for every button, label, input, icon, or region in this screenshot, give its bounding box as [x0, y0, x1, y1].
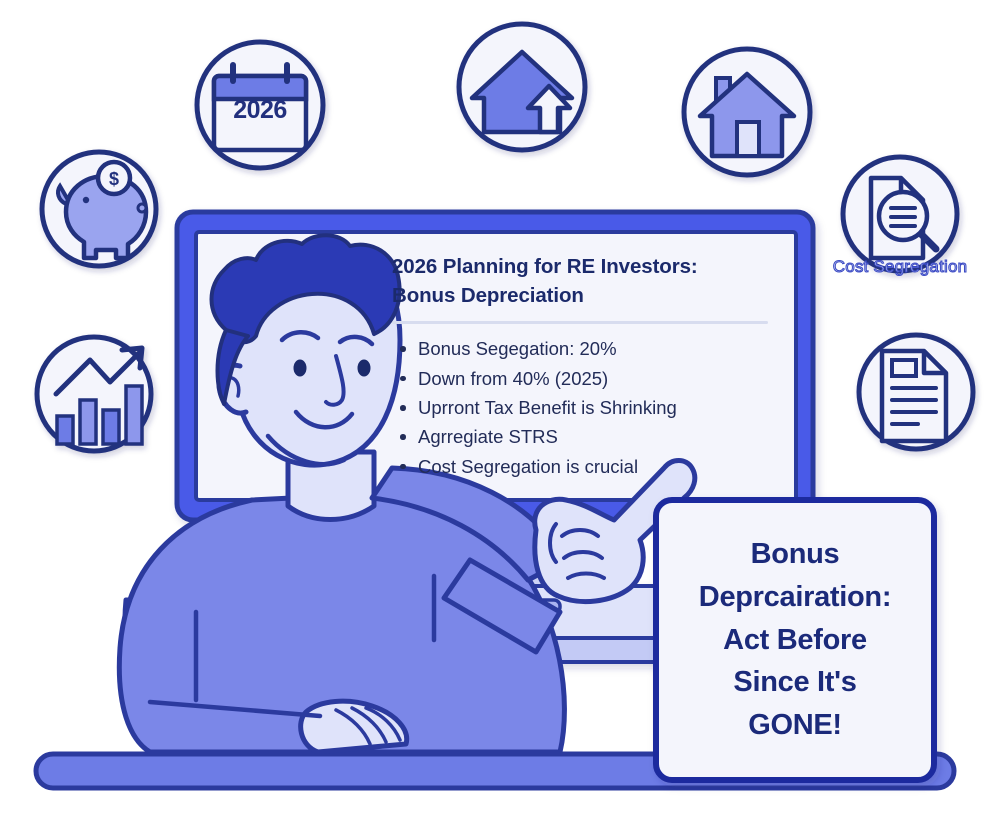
document-magnifier-icon: [843, 157, 957, 271]
calendar-year-label: 2026: [218, 96, 302, 125]
slide-content: 2026 Planning for RE Investors: Bonus De…: [392, 252, 782, 502]
slide-bullet-item: Uprront Tax Benefit is Shrinking: [392, 393, 782, 422]
house-icon: [684, 49, 810, 175]
house-arrow-up-icon: [459, 24, 585, 150]
slide-bullet-item: Cost Segregation is crucial: [392, 452, 782, 481]
slide-title: 2026 Planning for RE Investors: Bonus De…: [392, 252, 782, 310]
callout-line: Bonus: [751, 533, 840, 576]
piggy-bank-icon: $: [42, 152, 156, 266]
callout-line: GONE!: [748, 704, 842, 747]
slide-title-line-2: Bonus Depreciation: [392, 284, 584, 307]
slide-bullet-item: Bonus Segegation: 20%: [392, 334, 782, 363]
callout-line: Act Before: [723, 619, 867, 662]
bar-chart-growth-icon: [37, 337, 151, 451]
slide-divider: [392, 321, 768, 324]
callout-line: Deprcairation:: [699, 576, 891, 619]
slide-bullet-item: Agrregiate STRS: [392, 422, 782, 451]
document-lines-icon: [859, 335, 973, 449]
slide-title-line-1: 2026 Planning for RE Investors:: [392, 255, 698, 278]
cost-segregation-label: Cost Segregation: [812, 257, 987, 277]
callout-message: Bonus Deprcairation: Act Before Since It…: [660, 506, 930, 774]
slide-bullet-list: Bonus Segegation: 20% Down from 40% (202…: [392, 334, 782, 481]
slide-bullet-item: Down from 40% (2025): [392, 364, 782, 393]
svg-text:$: $: [109, 169, 119, 189]
illustration-canvas: $: [0, 0, 987, 819]
callout-line: Since It's: [733, 661, 856, 704]
